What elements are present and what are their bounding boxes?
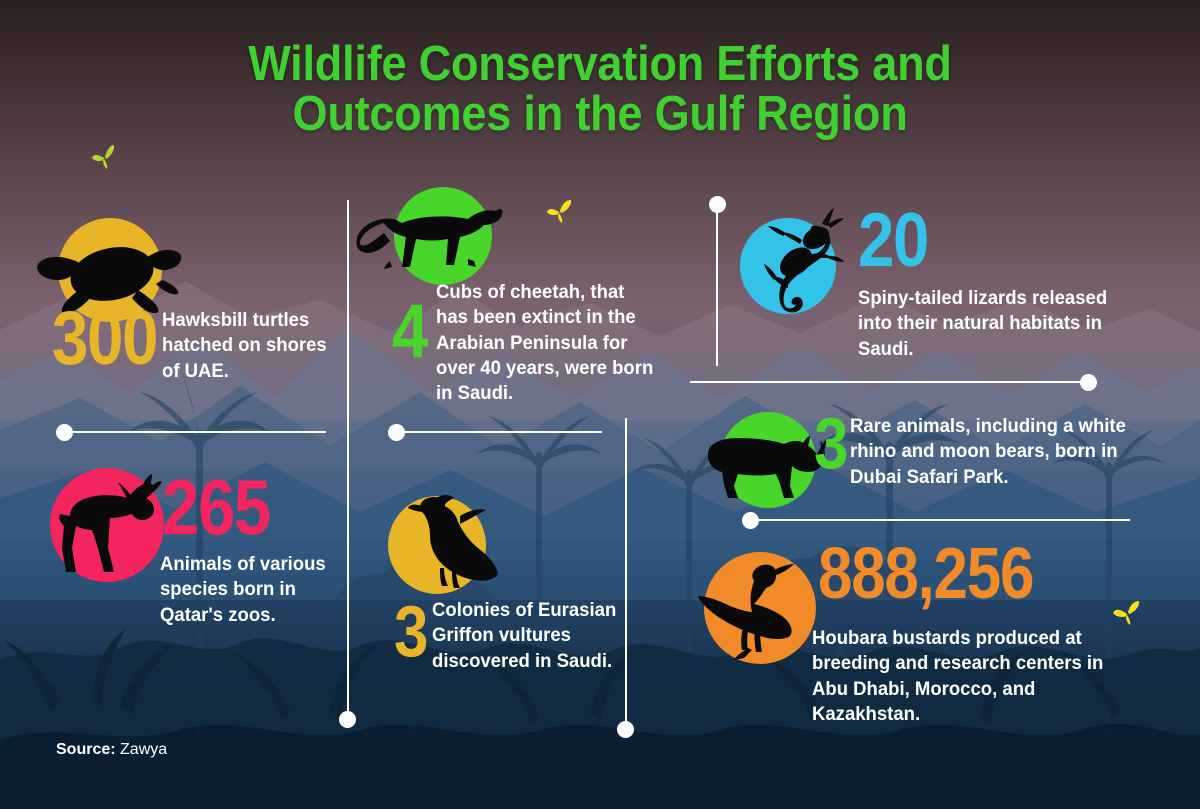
zebra-icon: [46, 470, 178, 586]
stat-number-dubai: 3: [814, 414, 847, 476]
connector-line-vertical-left: [347, 200, 349, 720]
stat-description-dubai: Rare animals, including a white rhino an…: [850, 414, 1131, 490]
source-credit: Source: Zawya: [56, 741, 167, 759]
connector-dot-lizard-top: [709, 196, 726, 213]
stat-block-cheetah-cubs: 4 Cubs of cheetah, that has been extinct…: [350, 175, 680, 425]
stat-block-turtles: 300 Hawksbill turtles hatched on shores …: [0, 200, 340, 420]
stat-number-qatar: 265: [162, 474, 270, 541]
connector-dot-vertical-left-bottom: [339, 711, 356, 728]
rhino-icon: [690, 428, 830, 504]
connector-dot-turtle-bottom: [56, 424, 73, 441]
stat-number-vulture: 3: [394, 602, 427, 664]
source-label: Source:: [56, 741, 116, 758]
stat-block-houbara-bustards: 888,256 Houbara bustards produced at bre…: [690, 538, 1140, 738]
connector-line-vertical-lizard: [716, 206, 718, 366]
connector-line-lizard-bottom: [690, 381, 1088, 383]
stat-block-vulture-colonies: 3 Colonies of Eurasian Griffon vultures …: [370, 486, 660, 736]
page-title: Wildlife Conservation Efforts and Outcom…: [48, 40, 1152, 140]
bustard-icon: [690, 556, 818, 668]
stat-number-bustard: 888,256: [818, 544, 1033, 606]
stat-number-cheetah: 4: [392, 299, 427, 364]
stat-description-cheetah: Cubs of cheetah, that has been extinct i…: [436, 280, 655, 407]
stat-number-lizards: 20: [858, 208, 928, 273]
connector-line-cheetah-bottom: [394, 431, 602, 433]
infographic-canvas: Wildlife Conservation Efforts and Outcom…: [0, 0, 1200, 809]
page-title-line2: Outcomes in the Gulf Region: [48, 90, 1152, 140]
butterfly-icon-left: [88, 140, 122, 172]
source-value: Zawya: [120, 741, 167, 758]
stat-description-lizards: Spiny-tailed lizards released into their…: [858, 286, 1143, 362]
stat-description-qatar: Animals of various species born in Qatar…: [160, 552, 329, 628]
page-title-line1: Wildlife Conservation Efforts and: [48, 40, 1152, 90]
vulture-icon: [398, 490, 510, 596]
stat-block-lizards: 20 Spiny-tailed lizards released into th…: [740, 200, 1160, 380]
connector-dot-cheetah-bottom: [388, 424, 405, 441]
stat-description-turtles: Hawksbill turtles hatched on shores of U…: [162, 308, 339, 384]
stat-description-vulture: Colonies of Eurasian Griffon vultures di…: [432, 598, 622, 674]
stat-description-bustard: Houbara bustards produced at breeding an…: [812, 626, 1107, 727]
stat-block-dubai-safari-animals: 3 Rare animals, including a white rhino …: [690, 398, 1130, 528]
stat-block-qatar-zoo-animals: 265 Animals of various species born in Q…: [0, 448, 340, 698]
stat-number-turtles: 300: [52, 306, 157, 371]
cheetah-icon: [350, 189, 510, 287]
connector-line-turtle-bottom: [62, 431, 326, 433]
lizard-icon: [734, 206, 854, 336]
